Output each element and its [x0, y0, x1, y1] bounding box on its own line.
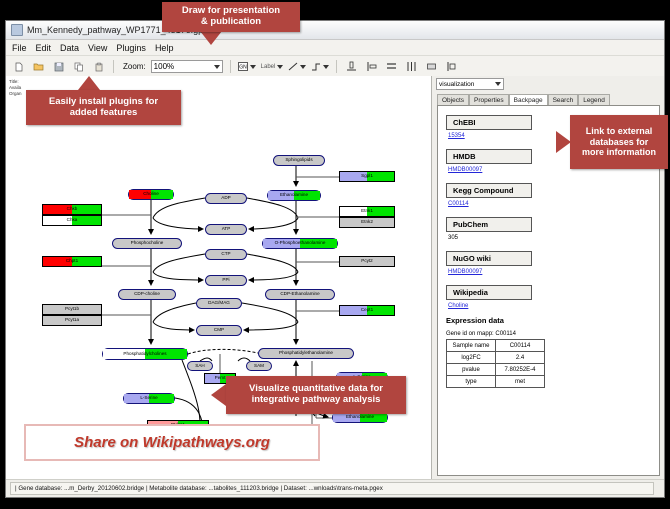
- node-label: Sgpl1: [361, 174, 373, 179]
- pathvisio-window: Mm_Kennedy_pathway_WP1771_45176.gpml Fil…: [5, 20, 665, 498]
- exp-value: C00114: [496, 340, 545, 352]
- table-row: log2FC 2.4: [447, 352, 545, 364]
- distribute-icon[interactable]: [404, 59, 419, 74]
- gene-node-pcyt2[interactable]: Pcyt2: [339, 256, 395, 267]
- connector-dropdown[interactable]: [311, 62, 329, 71]
- exp-key: type: [447, 376, 496, 388]
- backpage-entry: PubChem 305: [446, 214, 659, 241]
- menu-data[interactable]: Data: [60, 43, 79, 53]
- paste-icon[interactable]: [91, 59, 106, 74]
- align-top-icon[interactable]: [344, 59, 359, 74]
- svg-text:GN: GN: [239, 65, 247, 71]
- node-label: Phosphatidylethanolamine: [279, 351, 333, 356]
- metabolite-node-ethanolamine[interactable]: Ethanolamine: [267, 190, 321, 201]
- toolbar-separator: [336, 60, 337, 73]
- gene-node-sgpl1[interactable]: Sgpl1: [339, 171, 395, 182]
- new-icon[interactable]: [11, 59, 26, 74]
- gene-node-etnk2[interactable]: Etnk2: [339, 217, 395, 228]
- label-icon: Label: [261, 64, 276, 70]
- node-label: Ethanolamine: [280, 193, 308, 198]
- chevron-down-icon: [277, 65, 283, 69]
- callout-draw-arrow-icon: [200, 31, 222, 45]
- gene-node-chpt1[interactable]: Chpt1: [42, 256, 102, 267]
- backpage-entry: Kegg Compound C00114: [446, 180, 659, 207]
- node-label: Pcyt1b: [65, 307, 79, 312]
- node-label: Chpt1: [66, 259, 78, 264]
- node-label: Ethanolamine: [346, 415, 374, 420]
- menu-plugins[interactable]: Plugins: [116, 43, 146, 53]
- info-organism-label: Organ: [9, 91, 22, 97]
- node-label: Cept1: [361, 308, 373, 313]
- label-dropdown[interactable]: Label: [261, 64, 284, 70]
- table-row: type met: [447, 376, 545, 388]
- share-banner: Share on Wikipathways.org: [24, 424, 320, 461]
- screenshot-root: Mm_Kennedy_pathway_WP1771_45176.gpml Fil…: [0, 0, 670, 509]
- gene-node-chkb[interactable]: Chkb: [42, 204, 102, 215]
- node-label: ADP: [221, 196, 230, 201]
- menu-file[interactable]: File: [12, 43, 27, 53]
- exp-key: Sample name: [447, 340, 496, 352]
- align-left-icon[interactable]: [364, 59, 379, 74]
- zoom-value: 100%: [154, 62, 174, 71]
- save-icon[interactable]: [51, 59, 66, 74]
- callout-visualize-arrow-icon: [211, 384, 226, 406]
- backpage-db-title: Kegg Compound: [446, 183, 532, 198]
- callout-draw-line2: & publication: [201, 17, 261, 28]
- expression-table: Sample name C00114 log2FC 2.4 pvalue 7.8…: [446, 339, 545, 388]
- node-label: SAM: [254, 364, 264, 369]
- metabolite-node-cdp-choline[interactable]: CDP-choline: [118, 289, 176, 300]
- node-label: Pcyt1a: [65, 318, 79, 323]
- backpage-db-title: PubChem: [446, 217, 532, 232]
- callout-dblink-line1: Link to external: [586, 126, 653, 136]
- metabolite-node-l-serine[interactable]: L-Serine: [123, 393, 175, 404]
- app-icon: [11, 24, 23, 36]
- table-row: pvalue 7.80252E-4: [447, 364, 545, 376]
- metabolite-node-sphingolipids[interactable]: Sphingolipids: [273, 155, 325, 166]
- callout-visualize-line2: integrative pathway analysis: [252, 395, 381, 406]
- callout-visualize: Visualize quantitative data for integrat…: [226, 376, 406, 414]
- node-label: Sphingolipids: [285, 158, 312, 163]
- callout-plugins-line2: added features: [70, 108, 138, 119]
- side-panel-tabs: Objects Properties Backpage Search Legen…: [432, 92, 664, 105]
- backpage-db-value: 305: [448, 235, 659, 241]
- backpage-db-title: Wikipedia: [446, 285, 532, 300]
- node-label: CDP-choline: [134, 292, 160, 297]
- group-icon[interactable]: [424, 59, 439, 74]
- status-bar: | Gene database: ...m_Derby_20120602.bri…: [6, 479, 664, 497]
- node-label: Chka: [67, 218, 78, 223]
- node-label: CDP-Ethanolamine: [280, 292, 319, 297]
- backpage-entry: Wikipedia Choline: [446, 282, 659, 309]
- status-bar-text: | Gene database: ...m_Derby_20120602.bri…: [10, 482, 654, 495]
- exp-key: pvalue: [447, 364, 496, 376]
- exp-value: 7.80252E-4: [496, 364, 545, 376]
- node-label: Pemt: [215, 376, 226, 381]
- metabolite-node-dag-mag[interactable]: DAG/MAG: [196, 298, 242, 309]
- share-banner-text: Share on Wikipathways.org: [74, 434, 270, 451]
- stack-icon[interactable]: [384, 59, 399, 74]
- callout-dblink: Link to external databases for more info…: [570, 115, 668, 169]
- gene-node-cept1[interactable]: Cept1: [339, 305, 395, 316]
- metabolite-node-o-phosphoethanolamine[interactable]: O-Phosphoethanolamine: [262, 238, 338, 249]
- tab-search[interactable]: Search: [548, 94, 579, 105]
- metabolite-node-sah[interactable]: SAH: [187, 361, 213, 371]
- metabolite-node-cdp-ethanolamine[interactable]: CDP-Ethanolamine: [265, 289, 335, 300]
- menu-help[interactable]: Help: [155, 43, 174, 53]
- node-label: Phosphocholine: [131, 241, 164, 246]
- metabolite-node-cmp[interactable]: CMP: [196, 325, 242, 336]
- metabolite-node-phosphatidylethanolamine[interactable]: Phosphatidylethanolamine: [258, 348, 354, 359]
- menu-edit[interactable]: Edit: [36, 43, 52, 53]
- toolbar-separator: [230, 60, 231, 73]
- metabolite-node-adp[interactable]: ADP: [205, 193, 247, 204]
- table-row: Sample name C00114: [447, 340, 545, 352]
- backpage-db-link[interactable]: Choline: [448, 303, 659, 309]
- chevron-down-icon: [214, 65, 220, 69]
- backpage-db-link[interactable]: C00114: [448, 201, 659, 207]
- gene-node-pcyt1b[interactable]: Pcyt1b: [42, 304, 102, 315]
- copy-icon[interactable]: [71, 59, 86, 74]
- tab-objects[interactable]: Objects: [437, 94, 469, 105]
- exp-value: 2.4: [496, 352, 545, 364]
- line-dropdown[interactable]: [288, 62, 306, 71]
- callout-plugins: Easily install plugins for added feature…: [26, 90, 181, 125]
- pathway-canvas[interactable]: Title: Availa Organ: [6, 76, 431, 479]
- backpage-db-title: NuGO wiki: [446, 251, 532, 266]
- node-label: Chkb: [67, 207, 78, 212]
- metabolite-node-ctp[interactable]: CTP: [205, 249, 247, 260]
- menu-bar: File Edit Data View Plugins Help: [6, 40, 664, 56]
- chevron-down-icon: [250, 65, 256, 69]
- node-label: Pcyt2: [361, 259, 373, 264]
- chevron-down-icon: [323, 65, 329, 69]
- gene-node-pcyt1a[interactable]: Pcyt1a: [42, 315, 102, 326]
- metabolite-node-ppi[interactable]: PPi: [205, 275, 247, 286]
- callout-dblink-line2: databases for: [590, 137, 649, 147]
- visualization-value: visualization: [439, 81, 474, 88]
- tab-legend[interactable]: Legend: [578, 94, 610, 105]
- zoom-combobox[interactable]: 100%: [151, 60, 223, 73]
- zoom-label: Zoom:: [123, 62, 146, 71]
- metabolite-node-phosphocholine[interactable]: Phosphocholine: [112, 238, 182, 249]
- node-label: L-Serine: [140, 396, 157, 401]
- metabolite-node-sam[interactable]: SAM: [246, 361, 272, 371]
- gene-node-etnk1[interactable]: Etnk1: [339, 206, 395, 217]
- metabolite-node-atp[interactable]: ATP: [205, 224, 247, 235]
- toolbar-separator: [113, 60, 114, 73]
- visualization-row: visualization: [432, 76, 664, 92]
- chevron-down-icon: [495, 82, 501, 86]
- pathway-canvas-scroll[interactable]: Title: Availa Organ: [6, 76, 432, 479]
- gene-node-chka[interactable]: Chka: [42, 215, 102, 226]
- callout-plugins-arrow-icon: [78, 76, 100, 90]
- open-icon[interactable]: [31, 59, 46, 74]
- node-label: CMP: [214, 328, 224, 333]
- metabolite-node-choline[interactable]: Choline: [128, 189, 174, 200]
- backpage-entry: NuGO wiki HMDB00097: [446, 248, 659, 275]
- callout-dblink-line3: more information: [582, 147, 656, 157]
- node-label: O-Phosphoethanolamine: [275, 241, 326, 246]
- exp-key: log2FC: [447, 352, 496, 364]
- tool-bar: Zoom: 100% GN Label: [6, 56, 664, 78]
- node-label: Phosphatidylcholines: [123, 352, 166, 357]
- node-label: DAG/MAG: [208, 301, 230, 306]
- node-label: Etnk1: [361, 209, 373, 214]
- datanode-dropdown[interactable]: GN: [238, 62, 256, 71]
- node-label: CTP: [221, 252, 230, 257]
- visualization-combobox[interactable]: visualization: [436, 78, 504, 90]
- menu-view[interactable]: View: [88, 43, 107, 53]
- gene-id-on-mapp: Gene id on mapp: C00114: [446, 331, 659, 337]
- node-label: ATP: [222, 227, 231, 232]
- exp-value: met: [496, 376, 545, 388]
- tab-properties[interactable]: Properties: [469, 94, 509, 105]
- node-label: Choline: [143, 192, 159, 197]
- order-icon[interactable]: [444, 59, 459, 74]
- backpage-db-title: ChEBI: [446, 115, 532, 130]
- callout-dblink-arrow-icon: [556, 131, 571, 153]
- node-label: Etnk2: [361, 220, 373, 225]
- node-label: PPi: [222, 278, 229, 283]
- expression-data-header: Expression data: [446, 316, 659, 325]
- callout-plugins-line1: Easily install plugins for: [49, 97, 158, 108]
- metabolite-node-phosphatidylcholines[interactable]: Phosphatidylcholines: [102, 348, 188, 360]
- backpage-db-title: HMDB: [446, 149, 532, 164]
- backpage-db-link[interactable]: HMDB00097: [448, 269, 659, 275]
- callout-draw: Draw for presentation & publication: [162, 2, 300, 32]
- pathway-info-block: Title: Availa Organ: [9, 79, 22, 97]
- node-label: SAH: [195, 364, 204, 369]
- chevron-down-icon: [300, 65, 306, 69]
- title-bar: Mm_Kennedy_pathway_WP1771_45176.gpml: [6, 21, 664, 40]
